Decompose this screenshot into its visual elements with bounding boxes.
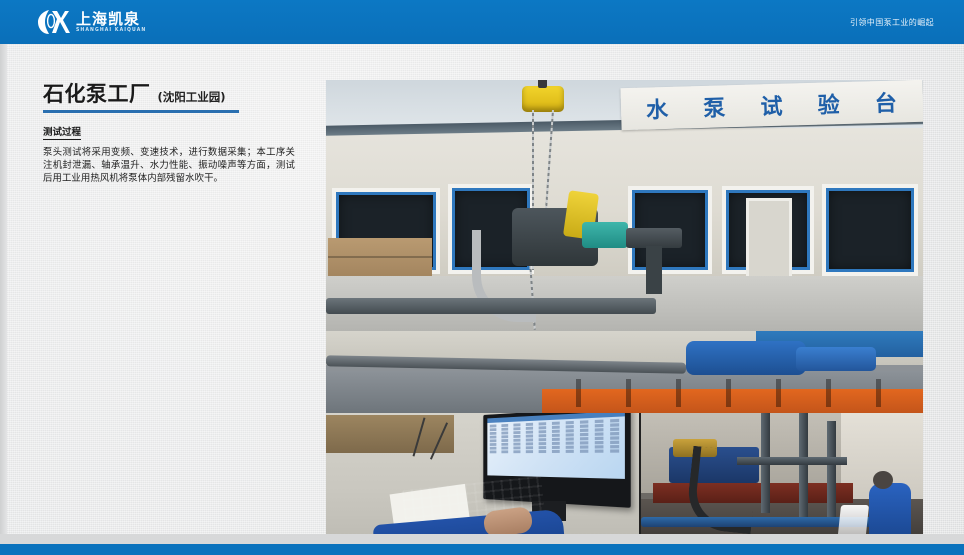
slide-text-column: 石化泵工厂 (沈阳工业园) 测试过程 泵头测试将采用变频、变速技术，进行数据采集… xyxy=(43,82,305,186)
photo-data-acquisition-station xyxy=(326,413,639,544)
photo-screen-row xyxy=(490,449,622,453)
body-paragraph: 泵头测试将采用变频、变速技术，进行数据采集；本工序关注机封泄漏、轴承温升、水力性… xyxy=(43,146,295,186)
photo-table-slot xyxy=(726,379,731,407)
photo-centrifugal-pump xyxy=(686,341,806,375)
title-main: 石化泵工厂 xyxy=(43,82,151,106)
title-underline-rule xyxy=(43,110,239,113)
footer-gap xyxy=(0,534,964,544)
photo-flanged-valve xyxy=(626,228,682,248)
section-label: 测试过程 xyxy=(43,127,81,140)
photo-discharge-pipe xyxy=(326,298,656,314)
test-bench-banner: 水 泵 试 验 台 xyxy=(620,80,923,130)
brand-logo[interactable]: 上海凯泉 SHANGHAI KAIQUAN xyxy=(36,7,146,37)
banner-char-2: 试 xyxy=(760,89,784,122)
photo-collage: 水 泵 试 验 台 xyxy=(326,80,923,544)
photo-table-slot xyxy=(826,379,831,407)
photo-orange-base-frame xyxy=(542,389,923,413)
photo-pump-test-hall: 水 泵 试 验 台 xyxy=(326,80,923,331)
page-title: 石化泵工厂 (沈阳工业园) xyxy=(43,82,305,106)
logo-text-en: SHANGHAI KAIQUAN xyxy=(76,26,146,33)
photo-table-slot xyxy=(876,379,881,407)
app-header: 上海凯泉 SHANGHAI KAIQUAN 引领中国泵工业的崛起 xyxy=(0,0,964,44)
banner-char-4: 台 xyxy=(874,85,898,118)
footer-bar xyxy=(0,544,964,555)
logo-text-cn: 上海凯泉 xyxy=(76,11,146,27)
photo-blue-pump-on-bed xyxy=(326,331,923,413)
photo-vertical-pipe xyxy=(799,413,808,517)
banner-char-0: 水 xyxy=(646,92,670,125)
banner-char-3: 验 xyxy=(817,87,841,120)
title-subtitle: (沈阳工业园) xyxy=(158,90,226,104)
photo-window xyxy=(822,184,918,276)
photo-vertical-pipe xyxy=(827,421,836,517)
photo-electric-hoist xyxy=(522,86,564,112)
banner-char-1: 泵 xyxy=(703,90,727,123)
photo-worker-head xyxy=(873,471,893,489)
header-slogan: 引领中国泵工业的崛起 xyxy=(850,0,934,44)
photo-worker-uniform xyxy=(869,483,911,541)
photo-table-slot xyxy=(676,379,681,407)
photo-pump-motor xyxy=(796,347,876,371)
page-left-edge xyxy=(0,44,7,534)
photo-table-slot xyxy=(626,379,631,407)
photo-monitor-screen xyxy=(487,413,625,479)
kaiquan-logo-icon xyxy=(36,8,70,36)
photo-door xyxy=(746,198,792,284)
photo-worker-at-test-rig xyxy=(641,413,923,544)
photo-teal-pipe-section xyxy=(582,222,628,248)
photo-table-slot xyxy=(576,379,581,407)
slide-body: 石化泵工厂 (沈阳工业园) 测试过程 泵头测试将采用变频、变速技术，进行数据采集… xyxy=(0,44,964,534)
photo-table-slot xyxy=(776,379,781,407)
